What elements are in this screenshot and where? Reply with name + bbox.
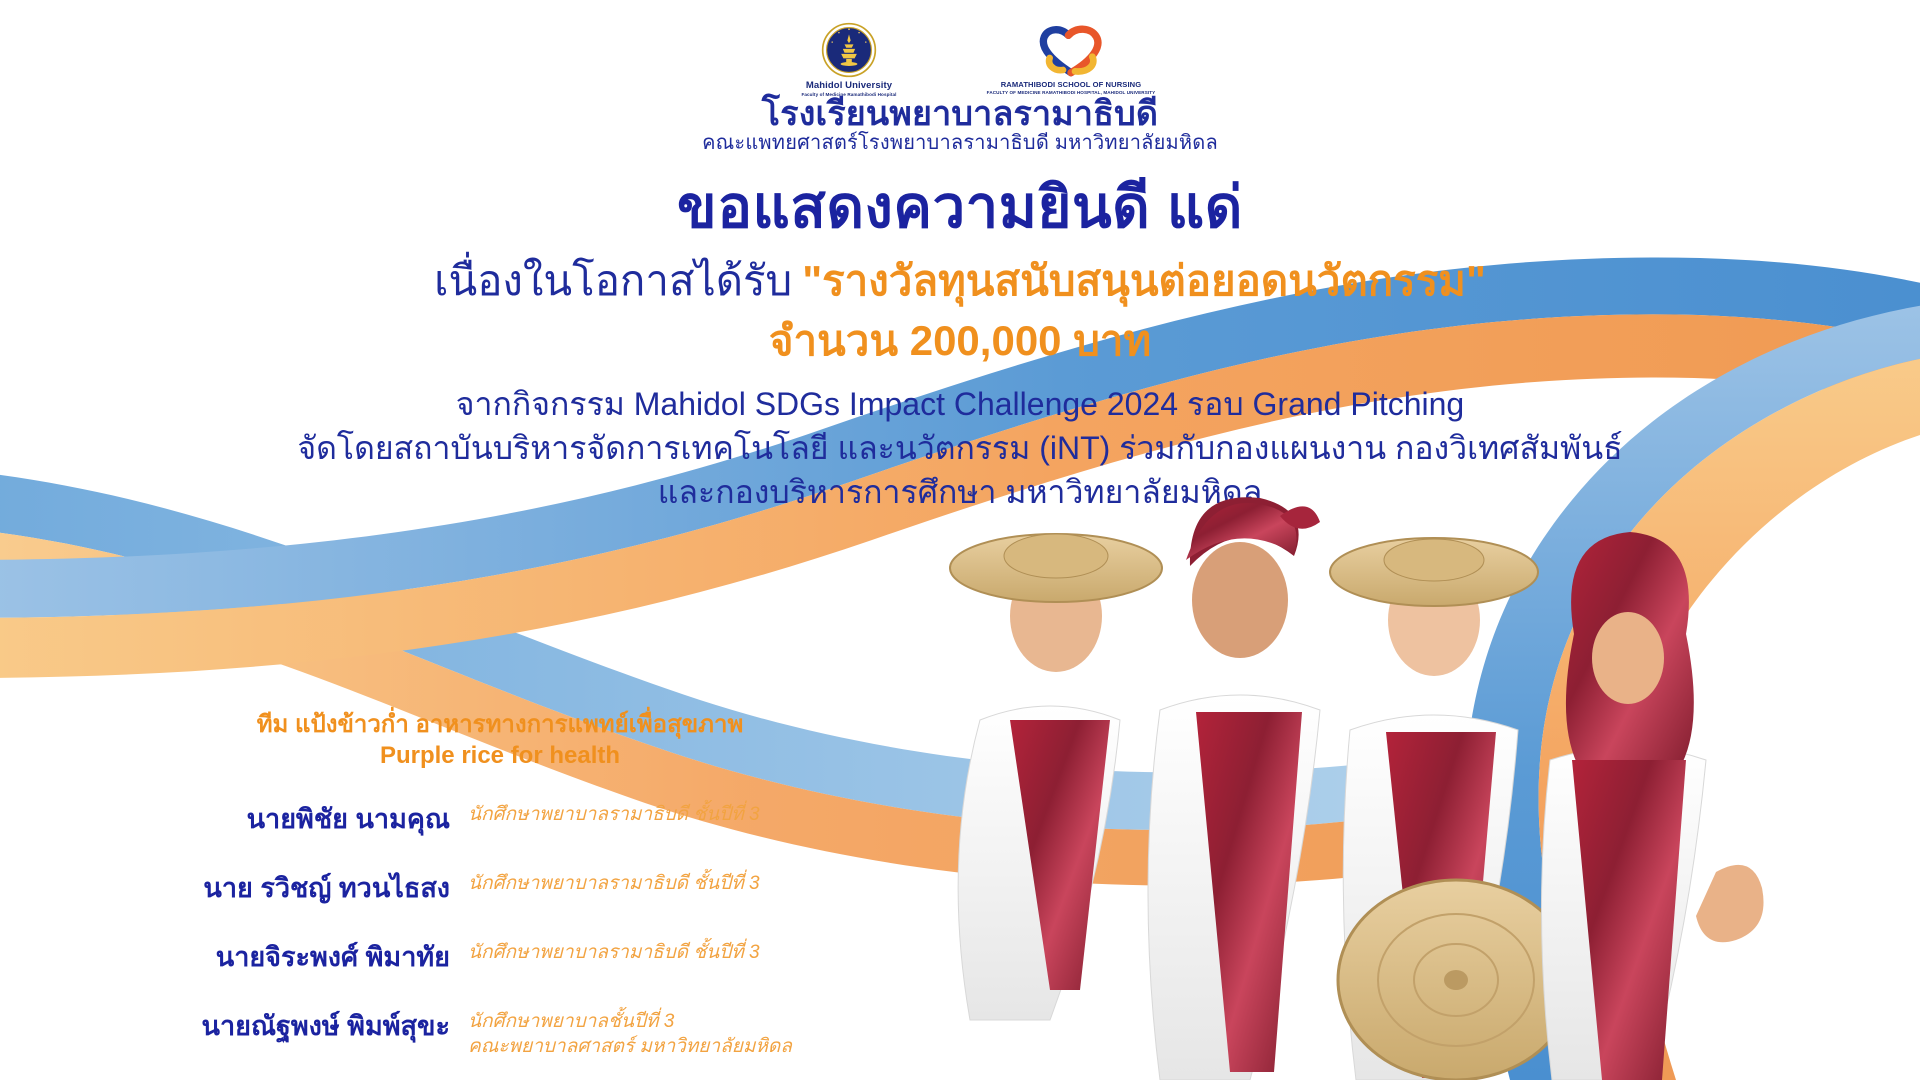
- team-block: ทีม แป้งข้าวก่ำ อาหารทางการแพทย์เพื่อสุข…: [150, 710, 850, 1080]
- team-title-english: Purple rice for health: [150, 740, 850, 771]
- person-left: [950, 534, 1162, 1020]
- congratulations-banner: Mahidol University Faculty of Medicine R…: [0, 0, 1920, 1080]
- organization-subtitle: คณะแพทยศาสตร์โรงพยาบาลรามาธิบดี มหาวิทยา…: [0, 126, 1920, 158]
- ramathibodi-school-of-nursing-heart-icon: [1031, 22, 1111, 78]
- award-line: เนื่องในโอกาสได้รับ"รางวัลทุนสนับสนุนต่อ…: [0, 248, 1920, 314]
- member-role: นักศึกษาพยาบาลชั้นปีที่ 3 คณะพยาบาลศาสตร…: [468, 1004, 792, 1059]
- event-description-line: และกองบริหารการศึกษา มหาวิทยาลัยมหิดล: [0, 470, 1920, 514]
- member-role: นักศึกษาพยาบาลรามาธิบดี ชั้นปีที่ 3: [468, 935, 760, 966]
- person-third: [1330, 538, 1574, 1080]
- event-description-line: จัดโดยสถาบันบริหารจัดการเทคโนโลยี และนวั…: [0, 426, 1920, 470]
- member-role-line: นักศึกษาพยาบาลชั้นปีที่ 3: [468, 1011, 674, 1032]
- award-amount: จำนวน 200,000 บาท: [0, 308, 1920, 374]
- member-role-line: นักศึกษาพยาบาลรามาธิบดี ชั้นปีที่ 3: [468, 942, 760, 963]
- member-name: นายจิระพงศ์ พิมาทัย: [150, 935, 468, 978]
- award-name: "รางวัลทุนสนับสนุนต่อยอดนวัตกรรม": [802, 257, 1486, 304]
- logo-ramathibodi-nursing: RAMATHIBODI SCHOOL OF NURSING FACULTY OF…: [986, 22, 1156, 95]
- member-role-line: นักศึกษาพยาบาลรามาธิบดี ชั้นปีที่ 3: [468, 804, 760, 825]
- member-role: นักศึกษาพยาบาลรามาธิบดี ชั้นปีที่ 3: [468, 866, 760, 897]
- congratulations-headline: ขอแสดงความยินดี แด่: [0, 160, 1920, 253]
- person-right: [1541, 532, 1763, 1080]
- team-member-row: นายพิชัย นามคุณ นักศึกษาพยาบาลรามาธิบดี …: [150, 797, 850, 840]
- team-photo: [860, 420, 1920, 1080]
- member-name: นายณัฐพงษ์ พิมพ์สุขะ: [150, 1004, 468, 1047]
- member-role: นักศึกษาพยาบาลรามาธิบดี ชั้นปีที่ 3: [468, 797, 760, 828]
- team-title-thai: ทีม แป้งข้าวก่ำ อาหารทางการแพทย์เพื่อสุข…: [150, 710, 850, 740]
- member-role-line: คณะพยาบาลศาสตร์ มหาวิทยาลัยมหิดล: [468, 1035, 792, 1060]
- event-description-line: จากกิจกรรม Mahidol SDGs Impact Challenge…: [0, 382, 1920, 426]
- event-description: จากกิจกรรม Mahidol SDGs Impact Challenge…: [0, 382, 1920, 514]
- award-prefix: เนื่องในโอกาสได้รับ: [434, 257, 792, 304]
- team-member-row: นายจิระพงศ์ พิมาทัย นักศึกษาพยาบาลรามาธิ…: [150, 935, 850, 978]
- member-name: นาย รวิชญ์ ทวนไธสง: [150, 866, 468, 909]
- team-member-row: นายณัฐพงษ์ พิมพ์สุขะ นักศึกษาพยาบาลชั้นป…: [150, 1004, 850, 1059]
- person-second: [1148, 497, 1320, 1080]
- member-name: นายพิชัย นามคุณ: [150, 797, 468, 840]
- team-member-row: นาย รวิชญ์ ทวนไธสง นักศึกษาพยาบาลรามาธิบ…: [150, 866, 850, 909]
- mahidol-university-seal-icon: [821, 22, 877, 78]
- member-role-line: นักศึกษาพยาบาลรามาธิบดี ชั้นปีที่ 3: [468, 873, 760, 894]
- team-member-list: นายพิชัย นามคุณ นักศึกษาพยาบาลรามาธิบดี …: [150, 797, 850, 1059]
